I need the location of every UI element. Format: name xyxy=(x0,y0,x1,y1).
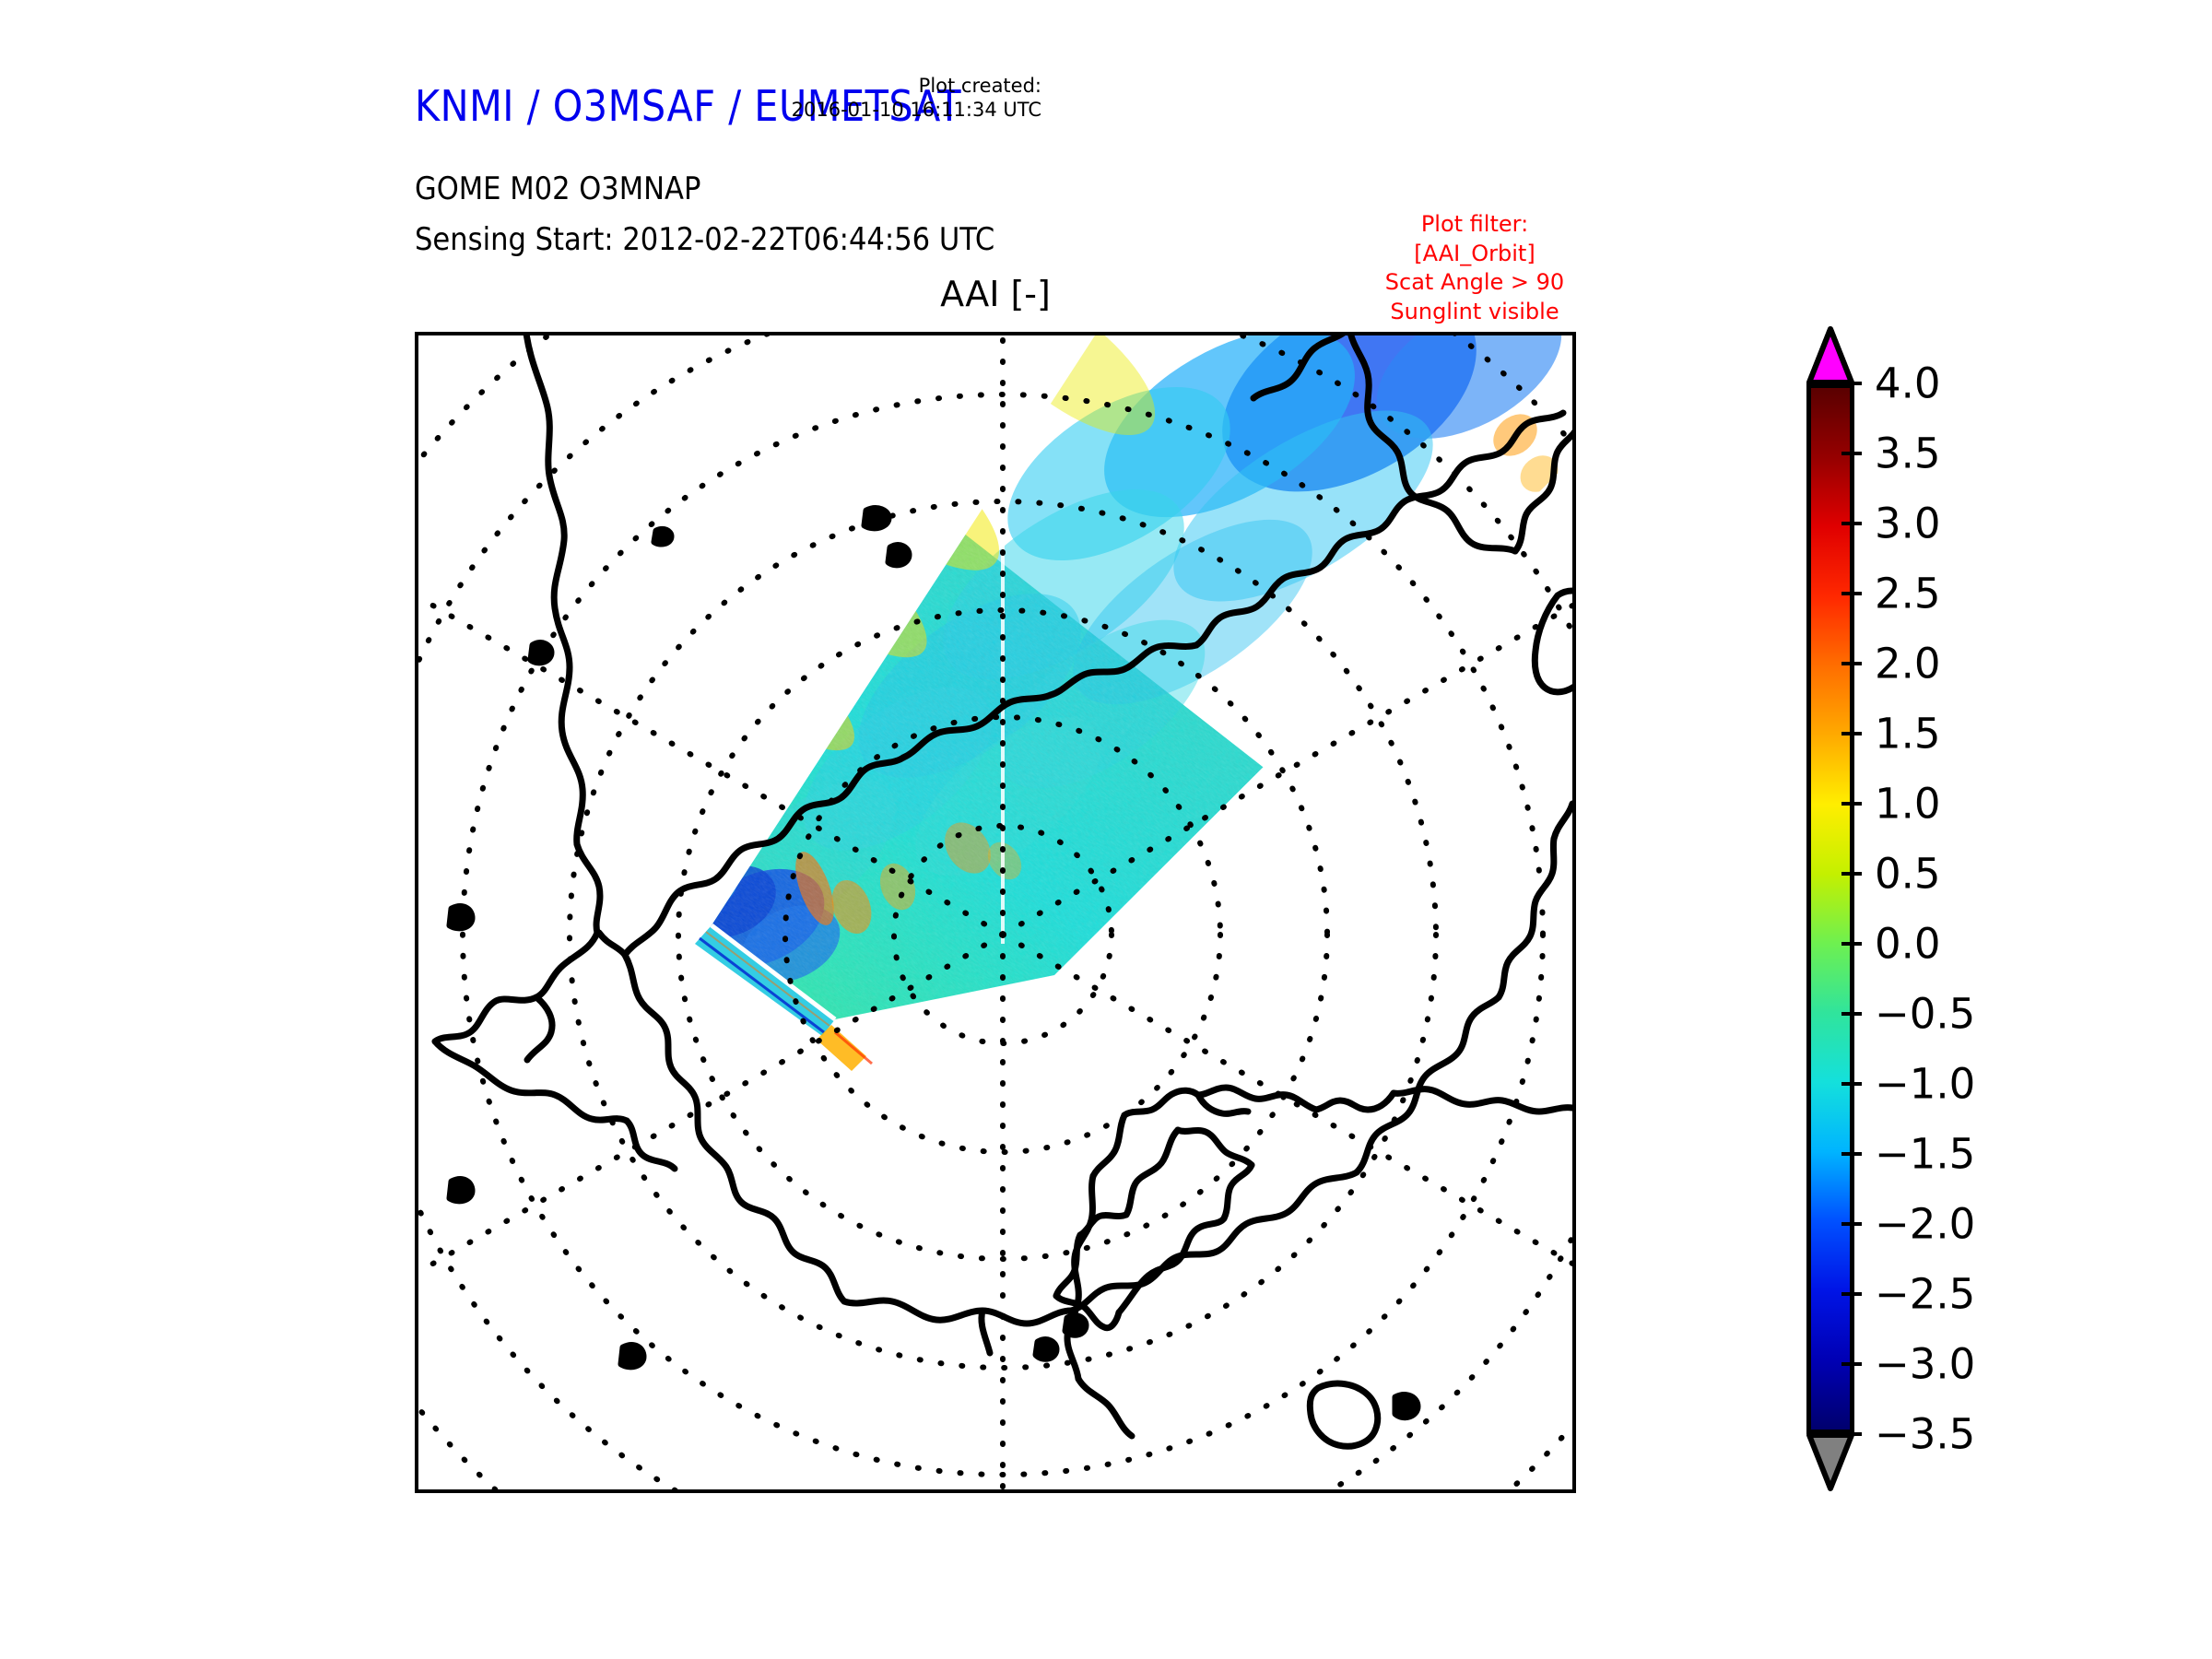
colorbar-tick-label: −1.0 xyxy=(1875,1064,1975,1105)
colorbar-over-arrow xyxy=(1806,326,1854,385)
filter-line-4: Sunglint visible xyxy=(1327,298,1622,327)
plot-created-block: Plot created: 2016-01-10 16:11:34 UTC xyxy=(792,74,1041,123)
colorbar-tick-label: 2.0 xyxy=(1875,643,1941,685)
colorbar-tick xyxy=(1841,1222,1862,1226)
colorbar-tick-label: 2.5 xyxy=(1875,573,1941,615)
filter-line-1: Plot filter: xyxy=(1327,210,1622,240)
plot-created-label: Plot created: xyxy=(792,74,1041,98)
colorbar-tick xyxy=(1841,522,1862,525)
colorbar-tick-label: −2.0 xyxy=(1875,1204,1975,1245)
plot-filter-annotation: Plot filter: [AAI_Orbit] Scat Angle > 90… xyxy=(1327,210,1622,327)
filter-line-3: Scat Angle > 90 xyxy=(1327,268,1622,298)
colorbar-tick xyxy=(1841,1292,1862,1296)
colorbar-tick-label: −0.5 xyxy=(1875,994,1975,1035)
colorbar-tick xyxy=(1841,662,1862,665)
sensing-start-label: Sensing Start: 2012-02-22T06:44:56 UTC xyxy=(415,221,994,258)
colorbar-tick xyxy=(1841,592,1862,595)
colorbar-tick-label: −3.5 xyxy=(1875,1414,1975,1455)
colorbar-tick xyxy=(1841,382,1862,385)
colorbar-tick-label: 0.5 xyxy=(1875,853,1941,895)
colorbar-tick-label: 3.5 xyxy=(1875,433,1941,475)
filter-line-2: [AAI_Orbit] xyxy=(1327,240,1622,269)
colorbar-tick xyxy=(1841,1082,1862,1086)
colorbar-tick-label: −3.0 xyxy=(1875,1344,1975,1385)
colorbar-tick-label: 1.0 xyxy=(1875,783,1941,825)
colorbar-tick xyxy=(1841,1362,1862,1366)
colorbar-tick-label: 3.0 xyxy=(1875,503,1941,545)
colorbar-gradient xyxy=(1806,383,1854,1434)
colorbar-tick-label: 0.0 xyxy=(1875,924,1941,965)
colorbar-tick-label: 4.0 xyxy=(1875,363,1941,405)
colorbar-tick xyxy=(1841,1152,1862,1156)
colorbar-under-arrow xyxy=(1806,1432,1854,1491)
colorbar-tick xyxy=(1841,942,1862,946)
colorbar-tick xyxy=(1841,802,1862,806)
colorbar-tick xyxy=(1841,732,1862,735)
colorbar-tick xyxy=(1841,1012,1862,1016)
colorbar-tick-label: −1.5 xyxy=(1875,1134,1975,1175)
polar-stereographic-map xyxy=(418,335,1572,1489)
map-plot-area[interactable] xyxy=(415,332,1576,1493)
colorbar-tick xyxy=(1841,1432,1862,1436)
colorbar-tick xyxy=(1841,452,1862,455)
instrument-label: GOME M02 O3MNAP xyxy=(415,171,700,207)
colorbar-tick xyxy=(1841,872,1862,876)
plot-created-value: 2016-01-10 16:11:34 UTC xyxy=(792,98,1041,122)
colorbar[interactable]: 4.03.53.02.52.01.51.00.50.0−0.5−1.0−1.5−… xyxy=(1797,324,2111,1491)
colorbar-tick-label: −2.5 xyxy=(1875,1274,1975,1315)
colorbar-tick-label: 1.5 xyxy=(1875,713,1941,755)
